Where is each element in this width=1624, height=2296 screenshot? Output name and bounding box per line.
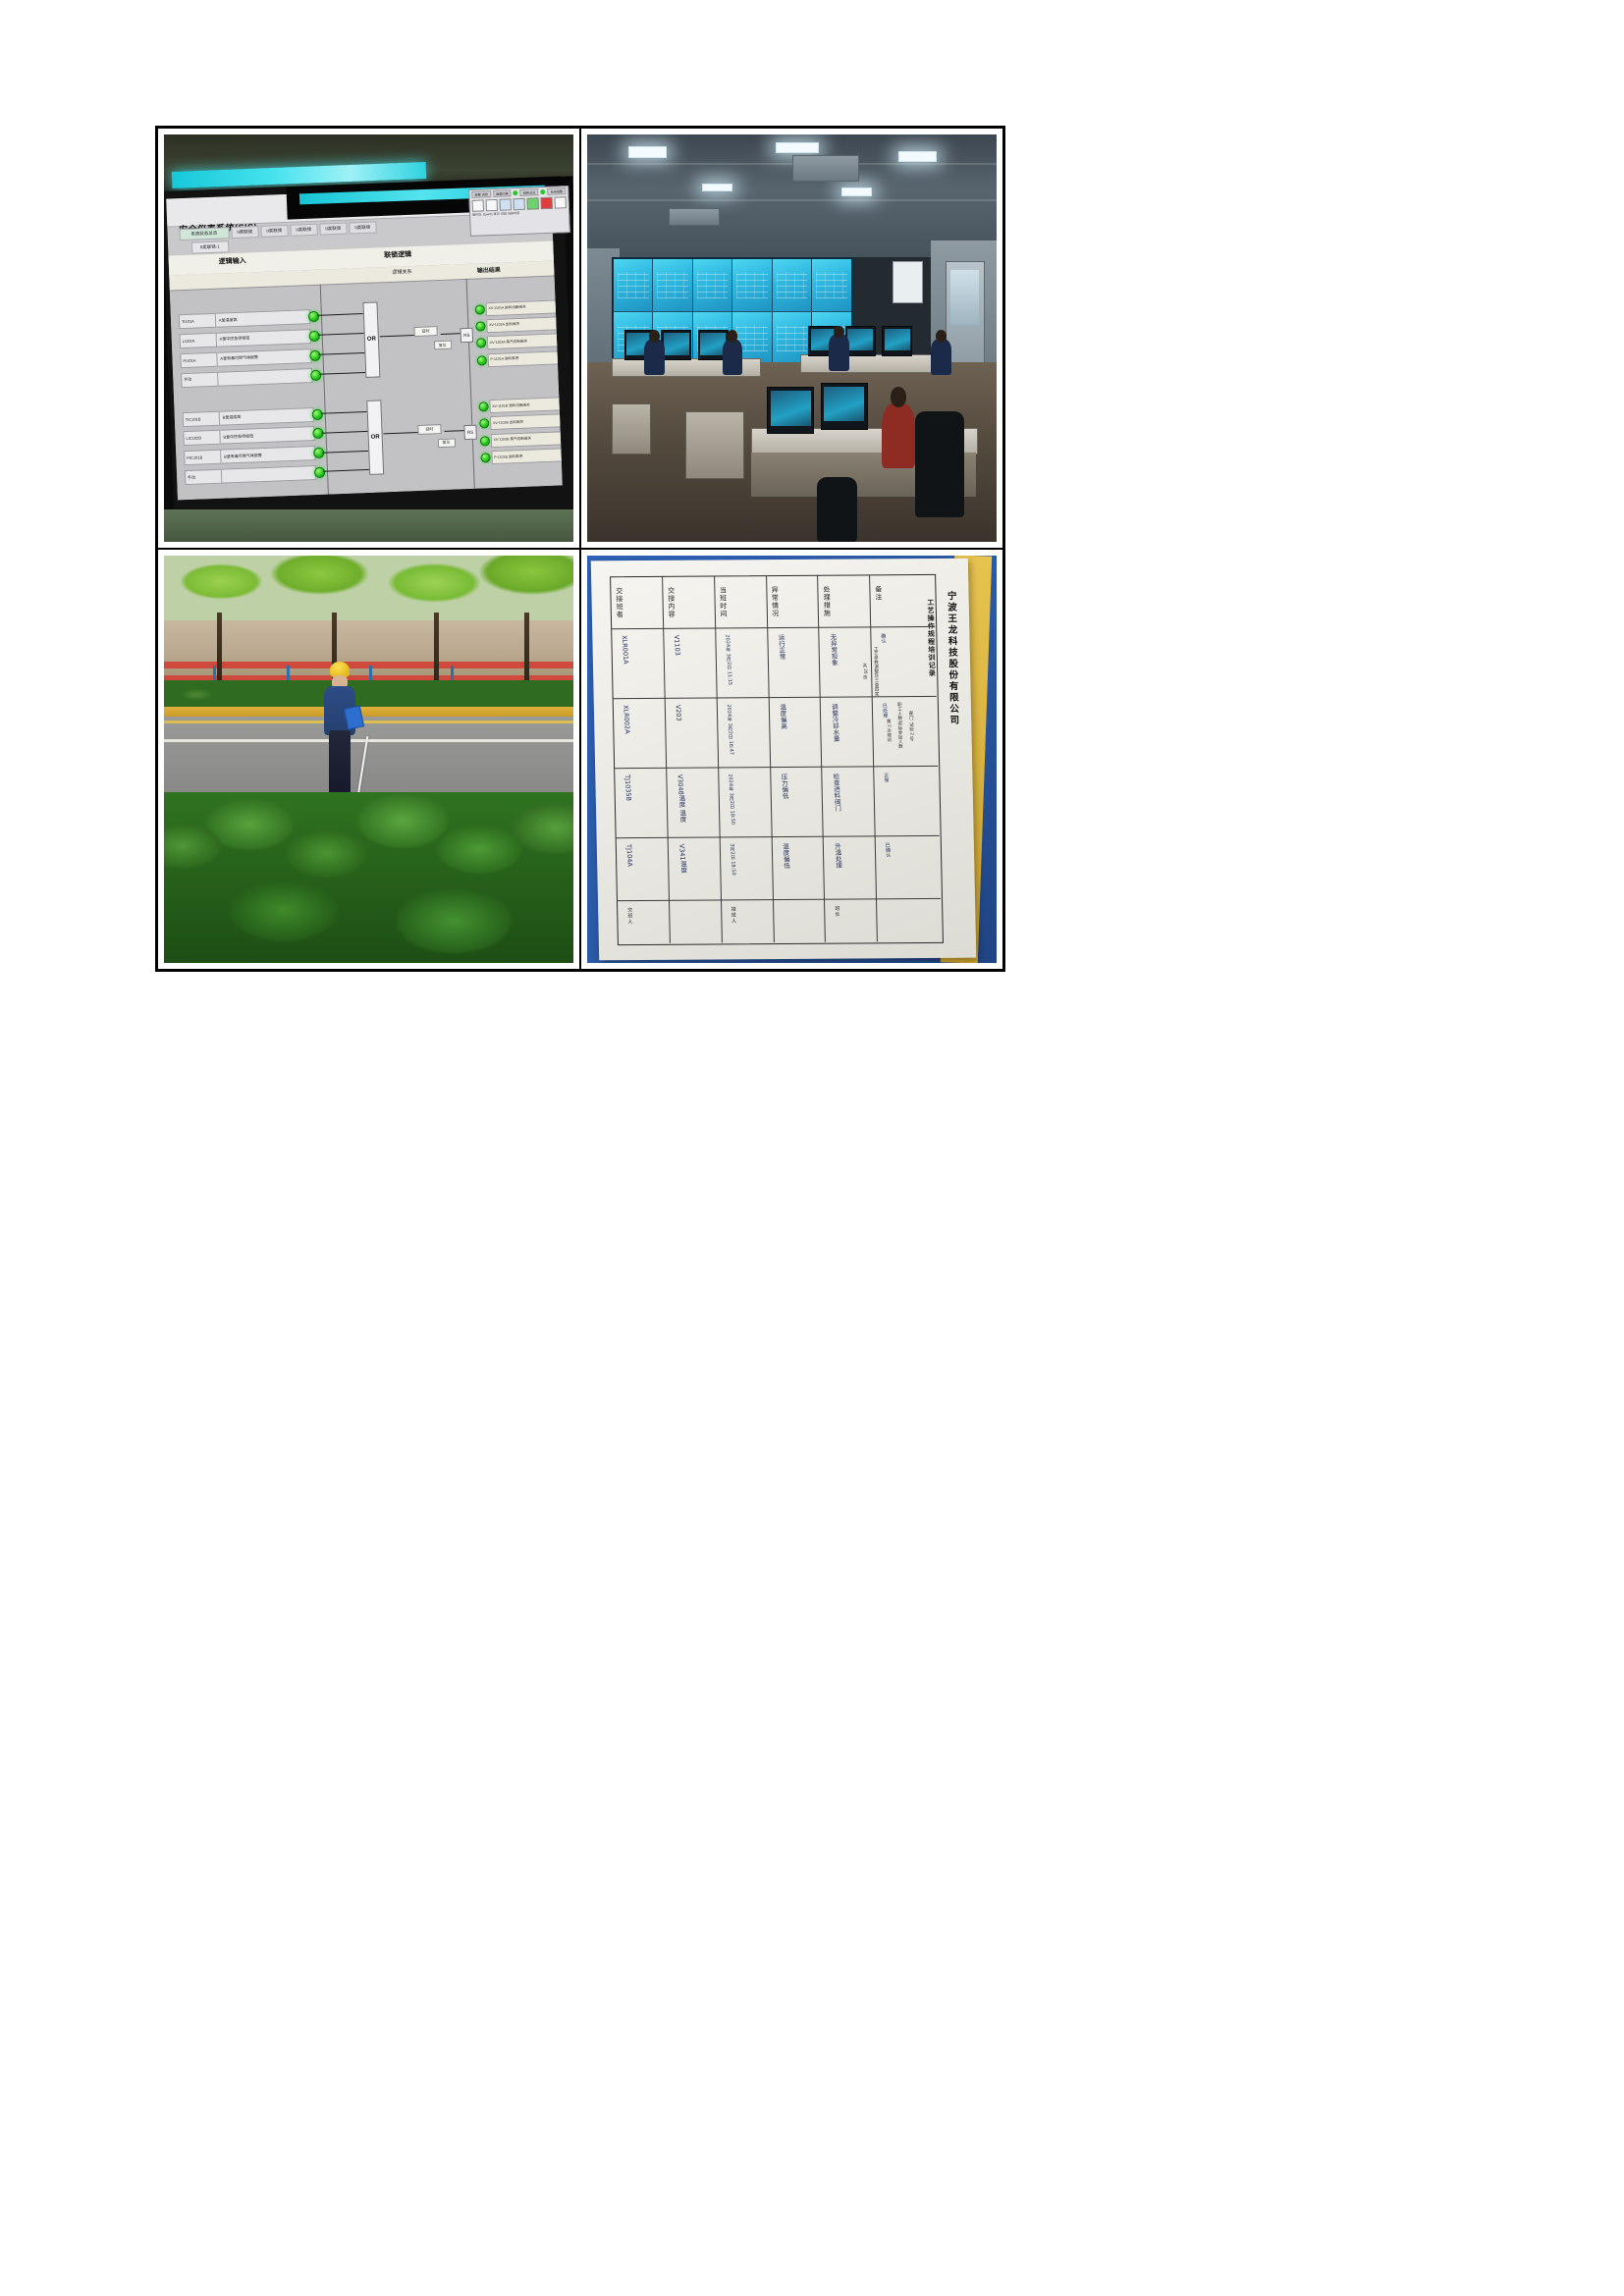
tab-interlock-2[interactable]: II类联锁 xyxy=(231,226,258,239)
table-header-cell: 处理措施 xyxy=(821,586,832,617)
input-tag: LIC102B xyxy=(184,430,222,446)
logic-wire xyxy=(319,372,365,375)
input-row[interactable]: 手动 xyxy=(181,368,321,388)
form-paper: 宁波王龙科技股份有限公司 工艺操作规程培训记录 部门: 试验 2 号 职工人数/… xyxy=(591,559,976,960)
person-icon[interactable] xyxy=(485,199,497,211)
hedge-foreground xyxy=(164,792,573,963)
table-cell: 正常 xyxy=(883,774,891,783)
tree-trunk xyxy=(524,613,529,686)
input-row[interactable]: LI102A A釜中控急停按钮 xyxy=(180,329,320,348)
input-tag: LI102A xyxy=(180,333,218,348)
input-description: A釜有毒可燃气体报警 xyxy=(217,348,312,367)
green-status-icon[interactable] xyxy=(526,197,538,209)
photo-cell-handwritten-form: 宁波王龙科技股份有限公司 工艺操作规程培训记录 部门: 试验 2 号 职工人数/… xyxy=(580,549,1003,970)
ceiling-grid-line xyxy=(587,199,997,201)
logic-wire xyxy=(319,352,365,355)
rs-latch[interactable]: RS xyxy=(464,425,478,440)
operator-monitor xyxy=(845,326,876,356)
operator-person xyxy=(931,339,951,375)
status-led-icon xyxy=(480,454,490,463)
input-row[interactable]: PIC101B B釜有毒可燃气体报警 xyxy=(184,446,324,465)
tree-trunk xyxy=(434,613,439,686)
road-curb xyxy=(164,707,573,718)
form-company-name: 宁波王龙科技股份有限公司 xyxy=(944,590,960,725)
status-led-icon xyxy=(308,311,319,322)
operator-person xyxy=(644,339,665,375)
table-cell: TJ104A xyxy=(625,844,634,867)
home-icon[interactable] xyxy=(471,199,483,211)
air-duct xyxy=(669,208,720,227)
output-row[interactable]: XV-1102A 出料阀关 xyxy=(475,317,563,334)
status-led-icon xyxy=(314,467,325,478)
operator-monitor xyxy=(821,383,868,430)
toolbar-chip-screen-switch[interactable]: 画面切换 xyxy=(493,189,512,197)
status-led-icon xyxy=(478,401,488,411)
operator-person xyxy=(829,334,849,370)
status-led-icon xyxy=(479,419,489,429)
reset-block[interactable]: 复位 xyxy=(434,341,452,350)
photo-grid: 安全仪表系统(SIS) 系统状态总览 II类联锁 II类联锁 II类联锁 II类… xyxy=(155,126,1005,972)
table-cell: V341温度 xyxy=(677,844,688,874)
status-led-icon xyxy=(312,408,323,419)
wall-sign xyxy=(893,261,923,304)
input-row[interactable]: TI101A A釜温度高 xyxy=(179,309,319,329)
worker-legs xyxy=(329,730,351,800)
table-header-cell: 交接班者 xyxy=(614,588,624,619)
status-led-icon xyxy=(477,355,487,365)
input-tag: PIC101B xyxy=(184,450,222,465)
input-tag: 手动 xyxy=(181,372,219,388)
sis-toolbar-overlay[interactable]: 报警 消音 画面切换 趋势总览 系统报警 xyxy=(468,186,570,237)
tab-system-overview[interactable]: 系统状态总览 xyxy=(179,227,229,240)
output-row[interactable]: P-1101A 进料泵停 xyxy=(477,350,564,367)
photo-handwritten-form: 宁波王龙科技股份有限公司 工艺操作规程培训记录 部门: 试验 2 号 职工人数/… xyxy=(587,556,997,963)
delay-block[interactable]: 延时 xyxy=(418,424,442,435)
table-header-cell: 异常情况 xyxy=(769,587,780,618)
divider-inputs-logic xyxy=(320,285,329,495)
road-marking xyxy=(164,739,573,742)
operator-chair xyxy=(915,411,964,517)
operator-head xyxy=(891,387,907,407)
operator-monitor xyxy=(882,326,912,356)
tab-interlock-4[interactable]: II类联锁 xyxy=(290,224,317,237)
video-wall-tile xyxy=(693,259,731,311)
equipment-cabinet xyxy=(685,411,744,478)
document-page: 安全仪表系统(SIS) 系统状态总览 II类联锁 II类联锁 II类联锁 II类… xyxy=(0,0,1624,2296)
photo-cell-control-room: 中控室 control room photo 大屏幕监控墙 (6x2 tiles… xyxy=(580,128,1003,549)
photo-outdoor-inspection: 厂区外巡检 outdoor inspection photo 身穿蓝色工作服、戴… xyxy=(164,556,573,963)
tab-interlock-selected[interactable]: II类联锁-1 xyxy=(191,240,229,253)
output-description: XV-1103B 蒸汽切断阀关 xyxy=(491,431,563,448)
ceiling-lamp xyxy=(776,142,819,153)
signature-label: 班长 xyxy=(835,906,841,918)
output-description: P-1101A 进料泵停 xyxy=(487,350,563,367)
output-description: P-1101B 进料泵停 xyxy=(491,448,563,464)
logic-wire xyxy=(323,469,369,472)
input-description: A釜温度高 xyxy=(216,309,311,328)
status-led-icon xyxy=(309,350,320,361)
output-row[interactable]: XV-1101B 进料切断阀关 xyxy=(478,398,563,414)
operator-monitor xyxy=(767,387,814,434)
video-wall-tile xyxy=(773,259,811,311)
table-header-cell: 当班时间 xyxy=(718,587,729,618)
logic-wire xyxy=(384,432,422,435)
sis-diagram-body: 逻辑输入 联锁逻辑 逻辑关系 输出结果 TI101A A釜温度高 xyxy=(169,241,563,501)
operator-head xyxy=(728,330,738,342)
input-description: B釜有毒可燃气体报警 xyxy=(221,446,316,464)
floor-backdrop xyxy=(164,509,573,542)
output-row[interactable]: XV-1101A 进料切断阀关 xyxy=(475,299,564,316)
table-cell: 确认 xyxy=(880,633,888,643)
output-description: XV-1102B 出料阀关 xyxy=(490,414,563,431)
green-status-icon xyxy=(540,189,545,194)
status-led-icon xyxy=(475,321,485,331)
or-gate[interactable]: OR xyxy=(363,302,381,378)
equipment-cabinet xyxy=(612,403,651,454)
section-header-logic: 联锁逻辑 xyxy=(384,250,411,261)
input-description xyxy=(222,465,317,484)
ceiling-lamp xyxy=(628,146,668,157)
logic-wire xyxy=(380,335,418,338)
table-header-cell: 备注 xyxy=(873,586,883,602)
status-led-icon xyxy=(475,304,485,314)
section-header-logic-sub: 逻辑关系 xyxy=(393,268,412,276)
table-cell: V203 xyxy=(675,705,683,721)
video-wall-tile xyxy=(812,259,850,311)
input-description: B釜中控急停按钮 xyxy=(220,427,315,446)
output-row[interactable]: P-1101B 进料泵停 xyxy=(480,449,563,465)
tree-canopy xyxy=(164,556,573,620)
photo-cell-outdoor-inspection: 厂区外巡检 outdoor inspection photo 身穿蓝色工作服、戴… xyxy=(157,549,580,970)
road-marking-yellow xyxy=(164,721,573,723)
input-row[interactable]: TIC101B B釜温度高 xyxy=(183,406,323,426)
toolbar-chip-trend-overview[interactable]: 趋势总览 xyxy=(519,188,538,196)
photo-cell-sis-screen: 安全仪表系统(SIS) 系统状态总览 II类联锁 II类联锁 II类联锁 II类… xyxy=(157,128,580,549)
logic-wire xyxy=(318,333,364,336)
inspection-worker xyxy=(315,662,364,800)
table-cell: 升温处理 xyxy=(833,843,843,869)
output-row[interactable]: XV-1103A 蒸汽切断阀关 xyxy=(476,334,563,350)
operator-person xyxy=(723,339,743,375)
toolbar-chip-system-alarm[interactable]: 系统报警 xyxy=(547,187,566,195)
section-header-inputs: 逻辑输入 xyxy=(219,256,246,267)
output-description: XV-1102A 出料阀关 xyxy=(486,316,563,333)
status-led-icon xyxy=(476,339,486,348)
signature-label: 接班人 xyxy=(731,906,737,924)
delay-block[interactable]: 延时 xyxy=(414,327,438,338)
ceiling-lamp xyxy=(702,184,732,192)
video-wall-tile xyxy=(653,259,691,311)
status-led-icon xyxy=(310,370,321,381)
chart-icon[interactable] xyxy=(499,198,511,210)
operator-chair xyxy=(817,477,858,542)
output-description: XV-1101B 进料切断阀关 xyxy=(489,397,563,413)
hedge-background xyxy=(164,680,573,709)
output-row[interactable]: XV-1102B 出料阀关 xyxy=(479,414,563,431)
table-outline xyxy=(611,574,945,945)
status-led-icon xyxy=(312,428,323,439)
exit-icon[interactable] xyxy=(554,196,566,208)
logic-wire xyxy=(322,431,368,434)
video-wall-tile xyxy=(732,259,771,311)
logic-wire xyxy=(323,451,369,454)
operator-person-red-vest xyxy=(882,403,914,468)
table-cell: V1103 xyxy=(673,635,681,656)
photo-sis-operator-station: 安全仪表系统(SIS) 系统状态总览 II类联锁 II类联锁 II类联锁 II类… xyxy=(164,134,573,542)
input-tag: 手动 xyxy=(185,469,223,485)
status-led-icon xyxy=(309,331,320,342)
green-status-icon xyxy=(513,190,517,195)
logic-wire xyxy=(321,411,367,414)
logic-wire xyxy=(317,313,363,316)
output-description: XV-1103A 蒸汽切断阀关 xyxy=(487,334,563,350)
ceiling-lamp xyxy=(841,187,872,196)
output-description: XV-1101A 进料切断阀关 xyxy=(485,299,563,316)
photo-control-room: 中控室 control room photo 大屏幕监控墙 (6x2 tiles… xyxy=(587,134,997,542)
input-tag: TIC101B xyxy=(183,410,221,426)
input-description xyxy=(218,368,313,387)
output-row[interactable]: XV-1103B 蒸汽切断阀关 xyxy=(480,431,563,448)
video-wall-tile xyxy=(614,259,652,311)
status-led-icon xyxy=(313,448,324,458)
section-header-outputs: 输出结果 xyxy=(477,265,501,275)
rs-latch[interactable]: RS xyxy=(460,328,474,343)
input-description: A釜中控急停按钮 xyxy=(217,329,312,347)
operator-console xyxy=(800,354,933,373)
signature-label: 交班人 xyxy=(627,907,634,925)
table-header-cell: 交接内容 xyxy=(666,587,677,618)
input-row[interactable]: PI101A A釜有毒可燃气体报警 xyxy=(180,348,320,368)
operator-head xyxy=(649,330,660,342)
input-row[interactable]: LIC102B B釜中控急停按钮 xyxy=(184,426,324,446)
table-cell: 已处理 xyxy=(882,703,890,718)
alarm-icon[interactable] xyxy=(540,197,552,209)
air-duct xyxy=(792,155,860,182)
input-row[interactable]: 手动 xyxy=(185,465,325,485)
input-description: B釜温度高 xyxy=(220,407,315,426)
operator-monitor xyxy=(661,330,691,360)
operator-head xyxy=(936,330,947,342)
tab-interlock-6[interactable]: II类联锁 xyxy=(349,221,376,234)
or-gate[interactable]: OR xyxy=(367,400,385,475)
input-tag: TI101A xyxy=(179,313,217,329)
ceiling-lamp xyxy=(898,151,938,162)
door-glass xyxy=(950,270,979,325)
form-table: 交接班者 交接内容 当班时间 异常情况 处理措施 备注 XLR001A V110… xyxy=(611,574,943,943)
tab-interlock-5[interactable]: II类联锁 xyxy=(319,222,347,235)
reset-block[interactable]: 复位 xyxy=(438,438,456,448)
clipboard xyxy=(344,706,364,730)
input-tag: PI101A xyxy=(180,352,218,368)
tab-interlock-3[interactable]: II类联锁 xyxy=(260,225,288,238)
grid-icon[interactable] xyxy=(513,198,524,210)
status-led-icon xyxy=(480,436,490,446)
tree-trunk xyxy=(217,613,222,686)
table-cell: 已确认 xyxy=(885,843,893,858)
toolbar-chip-alarm-mute[interactable]: 报警 消音 xyxy=(471,190,491,198)
